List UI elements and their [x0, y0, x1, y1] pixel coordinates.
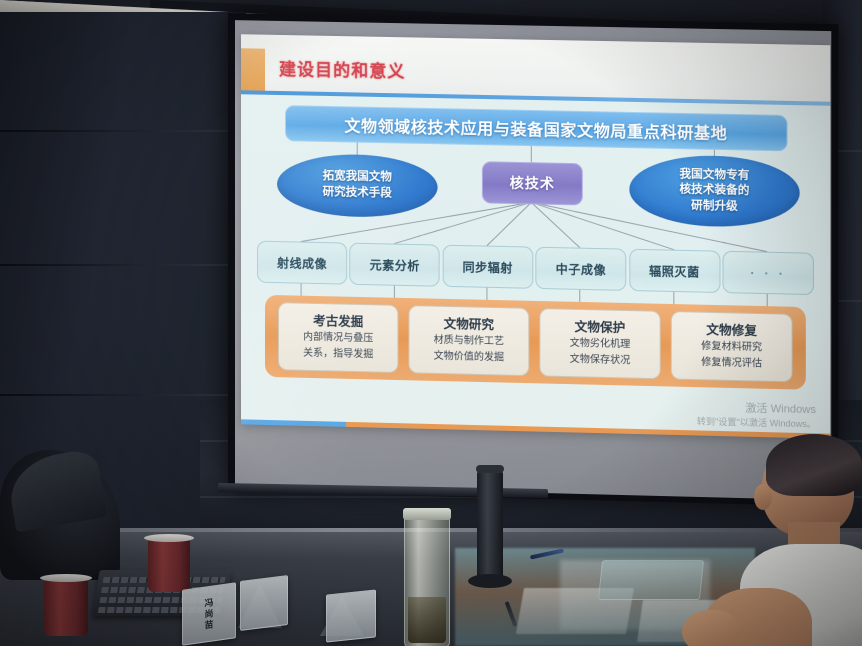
application-detail-2: 文物保存状况	[570, 353, 631, 368]
paper-cup	[148, 540, 190, 592]
technique-row: 射线成像元素分析同步辐射中子成像辐照灭菌· · ·	[257, 241, 814, 293]
name-placard	[326, 589, 376, 642]
application-card: 文物保护文物劣化机理文物保存状况	[539, 308, 660, 379]
title-accent-tab	[241, 48, 265, 92]
conference-room-photo: 建设目的和意义	[0, 0, 862, 646]
paper-cup	[44, 580, 88, 636]
goal-left-label: 拓宽我国文物研究技术手段	[323, 169, 392, 202]
attendee-hand	[682, 610, 738, 646]
attendee-ear	[754, 484, 772, 510]
application-detail-1: 材质与制作工艺	[434, 334, 504, 349]
technique-box: 射线成像	[257, 241, 347, 285]
technique-box: 中子成像	[536, 247, 627, 291]
presentation-slide: 建设目的和意义	[241, 34, 830, 439]
screen-surface: 建设目的和意义	[235, 20, 831, 500]
name-placard	[240, 575, 288, 631]
technique-box: 元素分析	[350, 243, 440, 287]
microphone	[477, 470, 503, 580]
slide-body: 文物领域核技术应用与装备国家文物局重点科研基地 拓宽我国文物研究技术手段 核技术…	[241, 94, 830, 438]
goal-right-label: 我国文物专有核技术装备的研制升级	[679, 167, 749, 215]
watermark-line-2: 转到"设置"以激活 Windows。	[697, 415, 816, 430]
application-title: 考古发掘	[313, 314, 363, 331]
diagram-root-node: 文物领域核技术应用与装备国家文物局重点科研基地	[285, 105, 787, 151]
application-title: 文物修复	[706, 323, 757, 340]
diagram-core-node: 核技术	[482, 161, 583, 205]
application-title: 文物保护	[575, 320, 626, 337]
application-card: 文物研究材质与制作工艺文物价值的发掘	[408, 305, 529, 376]
application-band: 考古发掘内部情况与叠压关系，指导发掘文物研究材质与制作工艺文物价值的发掘文物保护…	[265, 295, 806, 390]
seated-attendee	[740, 440, 862, 646]
technique-box: · · ·	[722, 251, 813, 295]
application-detail-1: 内部情况与叠压	[303, 331, 373, 346]
slide-title: 建设目的和意义	[279, 55, 405, 82]
application-detail-1: 修复材料研究	[701, 340, 762, 355]
application-detail-1: 文物劣化机理	[570, 337, 631, 352]
application-detail-2: 关系，指导发掘	[303, 347, 373, 362]
projector-screen: 建设目的和意义	[228, 13, 838, 507]
application-detail-2: 修复情况评估	[701, 356, 762, 371]
application-card: 考古发掘内部情况与叠压关系，指导发掘	[278, 302, 398, 373]
application-detail-2: 文物价值的发掘	[434, 350, 504, 365]
technique-box: 辐照灭菌	[629, 249, 720, 293]
attendee-hair	[766, 434, 862, 496]
application-card: 文物修复修复材料研究修复情况评估	[671, 311, 793, 382]
tea-bottle	[404, 515, 450, 646]
technique-box: 同步辐射	[442, 245, 533, 289]
windows-activation-watermark: 激活 Windows 转到"设置"以激活 Windows。	[697, 400, 816, 430]
diagram-goal-right: 我国文物专有核技术装备的研制升级	[629, 154, 799, 228]
application-title: 文物研究	[444, 317, 494, 334]
tablet-device	[598, 560, 704, 600]
placard-name: 冯尚苗	[203, 597, 216, 632]
diagram-goal-left: 拓宽我国文物研究技术手段	[277, 153, 438, 218]
name-placard: 冯尚苗	[182, 582, 236, 646]
